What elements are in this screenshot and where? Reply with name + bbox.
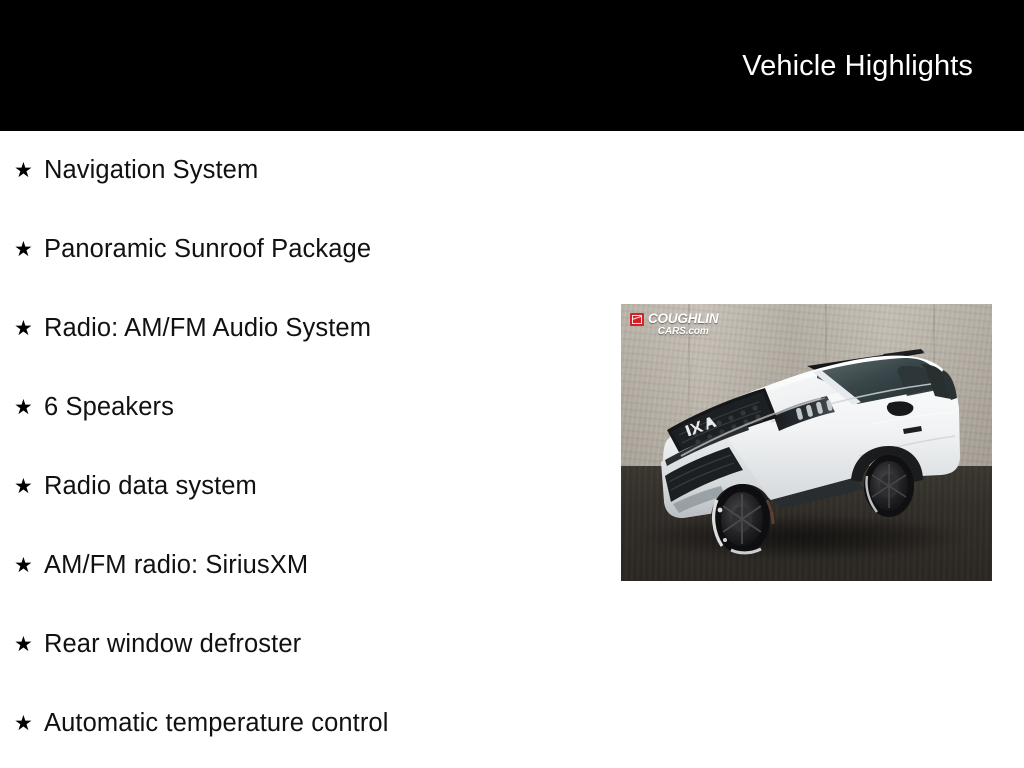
- list-item-label: Automatic temperature control: [44, 709, 388, 737]
- list-item-label: Radio data system: [44, 472, 257, 500]
- list-item: ★ Radio: AM/FM Audio System: [0, 289, 600, 368]
- star-bullet-icon: ★: [14, 605, 33, 684]
- list-item-label: AM/FM radio: SiriusXM: [44, 551, 308, 579]
- coughlin-logo-icon: [630, 313, 644, 326]
- star-bullet-icon: ★: [14, 289, 33, 368]
- star-bullet-icon: ★: [14, 210, 33, 289]
- list-item-label: 6 Speakers: [44, 393, 174, 421]
- list-item-label: Rear window defroster: [44, 630, 301, 658]
- header-bar: Vehicle Highlights: [0, 0, 1024, 131]
- vehicle-photo: COUGHLIN CARS.com: [621, 304, 992, 581]
- list-item: ★ Radio data system: [0, 447, 600, 526]
- list-item: ★ Automatic temperature control: [0, 684, 600, 763]
- list-item-label: Navigation System: [44, 156, 258, 184]
- watermark-secondary-text: CARS.com: [648, 327, 718, 337]
- kia-sorento-illustration: [621, 304, 992, 581]
- rear-wheel: [864, 455, 914, 517]
- star-bullet-icon: ★: [14, 368, 33, 447]
- front-wheel: [714, 484, 770, 554]
- list-item-label: Radio: AM/FM Audio System: [44, 314, 371, 342]
- list-item: ★ AM/FM radio: SiriusXM: [0, 526, 600, 605]
- star-bullet-icon: ★: [14, 447, 33, 526]
- dealer-watermark: COUGHLIN CARS.com: [630, 312, 718, 337]
- list-item-label: Panoramic Sunroof Package: [44, 235, 371, 263]
- list-item: ★ 6 Speakers: [0, 368, 600, 447]
- star-bullet-icon: ★: [14, 131, 33, 210]
- watermark-primary-text: COUGHLIN: [648, 312, 718, 326]
- star-bullet-icon: ★: [14, 526, 33, 605]
- star-bullet-icon: ★: [14, 684, 33, 763]
- vehicle-highlights-list: ★ Navigation System ★ Panoramic Sunroof …: [0, 131, 600, 763]
- page-title: Vehicle Highlights: [742, 49, 973, 83]
- list-item: ★ Panoramic Sunroof Package: [0, 210, 600, 289]
- list-item: ★ Rear window defroster: [0, 605, 600, 684]
- list-item: ★ Navigation System: [0, 131, 600, 210]
